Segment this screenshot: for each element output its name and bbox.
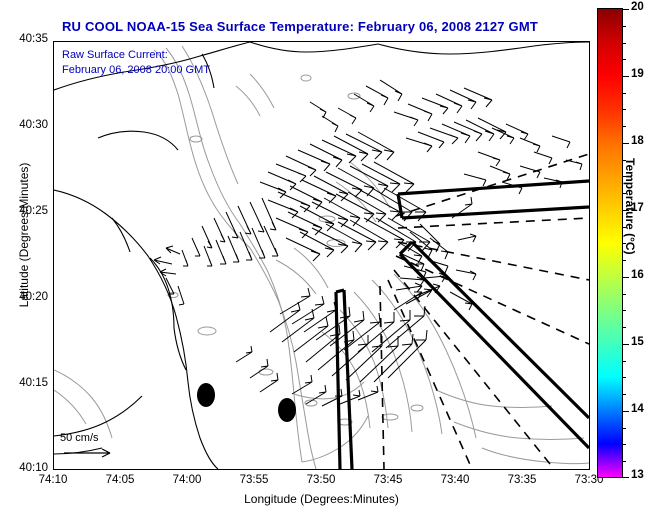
colorbar-label-14: 14 — [631, 403, 644, 415]
colorbar-minor-tick — [623, 377, 626, 378]
radar-site-markers — [197, 383, 296, 422]
vector-scale-key: 50 cm/s — [60, 432, 120, 463]
colorbar-minor-tick — [623, 310, 626, 311]
y-axis-label: Latitude (Degrees:Minutes) — [17, 125, 31, 345]
colorbar-minor-tick — [623, 43, 626, 44]
colorbar-tick-13 — [623, 477, 629, 478]
xtick-3: 73:55 — [224, 474, 284, 486]
colorbar-minor-tick — [623, 461, 626, 462]
colorbar-label-13: 13 — [631, 469, 644, 481]
colorbar-label-19: 19 — [631, 68, 644, 80]
colorbar-tick-14 — [623, 411, 629, 412]
colorbar-minor-tick — [623, 444, 626, 445]
map-plot-area — [53, 41, 590, 470]
site-marker — [197, 383, 215, 407]
colorbar-minor-tick — [623, 327, 626, 328]
scale-key-label: 50 cm/s — [60, 432, 120, 444]
xtick-4: 73:50 — [291, 474, 351, 486]
colorbar-minor-tick — [623, 428, 626, 429]
colorbar-minor-tick — [623, 26, 626, 27]
colorbar-minor-tick — [623, 361, 626, 362]
colorbar-label-20: 20 — [631, 1, 644, 13]
x-axis-label: Longitude (Degrees:Minutes) — [53, 492, 590, 506]
colorbar-minor-tick — [623, 59, 626, 60]
colorbar-minor-tick — [623, 109, 626, 110]
xtick-0: 74:10 — [23, 474, 83, 486]
ytick-0: 40:35 — [2, 33, 48, 45]
site-marker — [278, 398, 296, 422]
page-title: RU COOL NOAA-15 Sea Surface Temperature:… — [0, 19, 600, 34]
annotation-line-1: Raw Surface Current: — [62, 48, 210, 63]
colorbar-label-16: 16 — [631, 269, 644, 281]
colorbar-label-18: 18 — [631, 135, 644, 147]
coastline — [54, 42, 589, 469]
colorbar-tick-16 — [623, 277, 629, 278]
xtick-2: 74:00 — [157, 474, 217, 486]
surface-current-vectors — [154, 80, 582, 406]
ytick-5: 40:10 — [2, 462, 48, 474]
colorbar-tick-20 — [623, 9, 629, 10]
colorbar-tick-18 — [623, 143, 629, 144]
bathymetry-islets — [168, 75, 423, 425]
colorbar-minor-tick — [623, 93, 626, 94]
colorbar-gradient — [597, 8, 623, 478]
xtick-7: 73:35 — [492, 474, 552, 486]
colorbar-minor-tick — [623, 260, 626, 261]
xtick-5: 73:45 — [358, 474, 418, 486]
colorbar-minor-tick — [623, 394, 626, 395]
colorbar-title: Temperature (°C) — [623, 158, 637, 255]
colorbar-tick-19 — [623, 76, 629, 77]
map-canvas — [54, 42, 589, 469]
xtick-1: 74:05 — [90, 474, 150, 486]
colorbar-tick-15 — [623, 344, 629, 345]
annotation-line-2: February 06, 2008 20:00 GMT — [62, 63, 210, 78]
scale-arrow-icon — [60, 446, 120, 460]
colorbar-label-15: 15 — [631, 336, 644, 348]
ytick-4: 40:15 — [2, 377, 48, 389]
colorbar-minor-tick — [623, 126, 626, 127]
colorbar-minor-tick — [623, 294, 626, 295]
xtick-6: 73:40 — [425, 474, 485, 486]
colorbar: 20 19 18 17 16 15 14 13 Temperature (°C) — [597, 8, 623, 478]
plot-annotation: Raw Surface Current: February 06, 2008 2… — [62, 48, 210, 78]
